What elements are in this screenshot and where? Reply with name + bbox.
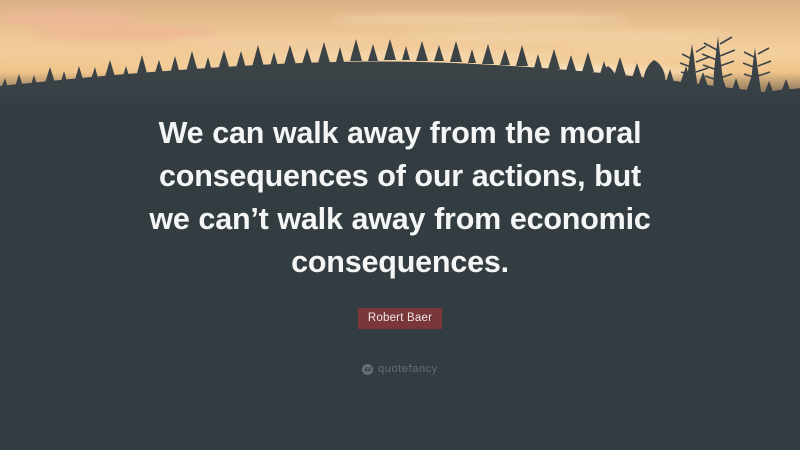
quote-wallpaper: We can walk away from the moral conseque…: [0, 0, 800, 450]
quote-badge-icon: [362, 364, 373, 375]
quote-content: We can walk away from the moral conseque…: [0, 0, 800, 450]
quotefancy-watermark[interactable]: quotefancy: [0, 363, 800, 375]
author-container: Robert Baer: [358, 308, 442, 329]
watermark-label: quotefancy: [378, 363, 438, 375]
author-name-badge[interactable]: Robert Baer: [358, 308, 442, 329]
quote-text: We can walk away from the moral conseque…: [140, 112, 660, 284]
